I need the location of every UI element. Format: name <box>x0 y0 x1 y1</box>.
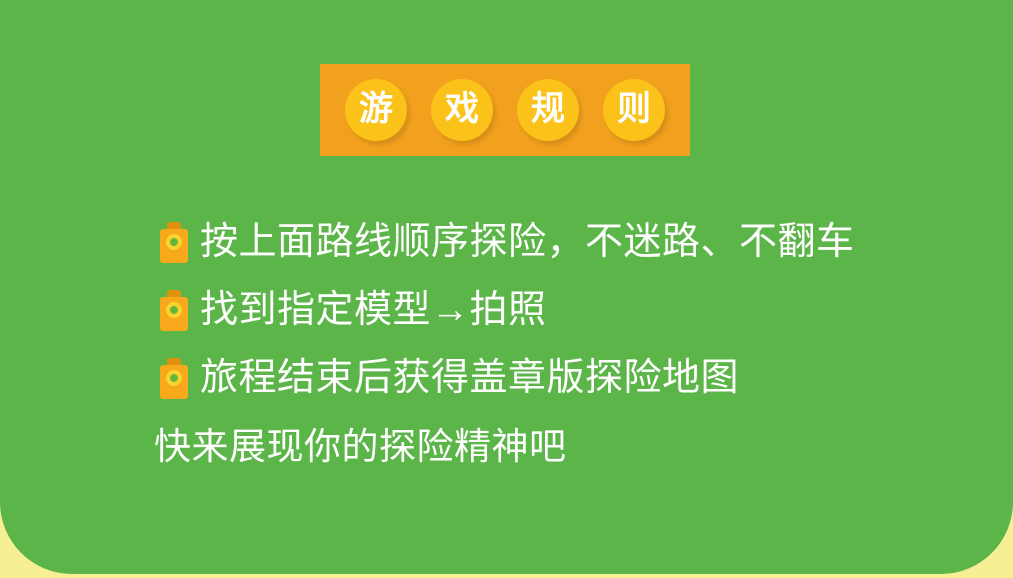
rule-item-3: 旅程结束后获得盖章版探险地图 <box>0 344 1013 412</box>
rule-item-2: 找到指定模型→拍照 <box>0 276 1013 344</box>
rule-item-2-text: 找到指定模型→拍照 <box>200 291 547 329</box>
title-chip-1: 游 <box>345 79 407 141</box>
backpack-ring <box>166 234 182 250</box>
rule-item-4: 快来展现你的探险精神吧 <box>0 412 1013 480</box>
backpack-bullet-icon <box>160 220 188 264</box>
title-chip-4-char: 则 <box>617 92 651 126</box>
title-chip-4: 则 <box>603 79 665 141</box>
green-content-panel: 游 戏 规 则 按上面路线顺序探险，不迷路、不翻车 <box>0 0 1013 574</box>
rule-item-1: 按上面路线顺序探险，不迷路、不翻车 <box>0 208 1013 276</box>
title-banner: 游 戏 规 则 <box>320 64 690 156</box>
backpack-ring <box>166 302 182 318</box>
rules-list: 按上面路线顺序探险，不迷路、不翻车 找到指定模型→拍照 旅程结束后获得盖章版探险… <box>0 208 1013 480</box>
backpack-bullet-icon <box>160 356 188 400</box>
title-chip-3: 规 <box>517 79 579 141</box>
title-chip-2: 戏 <box>431 79 493 141</box>
backpack-bullet-icon <box>160 288 188 332</box>
rule-item-1-text: 按上面路线顺序探险，不迷路、不翻车 <box>200 223 855 261</box>
title-chip-3-char: 规 <box>531 92 565 126</box>
poster-stage: 游 戏 规 则 按上面路线顺序探险，不迷路、不翻车 <box>0 0 1013 578</box>
title-chip-2-char: 戏 <box>445 92 479 126</box>
backpack-ring <box>166 370 182 386</box>
rule-item-3-text: 旅程结束后获得盖章版探险地图 <box>200 359 739 397</box>
title-chip-1-char: 游 <box>359 92 393 126</box>
rule-item-4-text: 快来展现你的探险精神吧 <box>154 428 567 465</box>
